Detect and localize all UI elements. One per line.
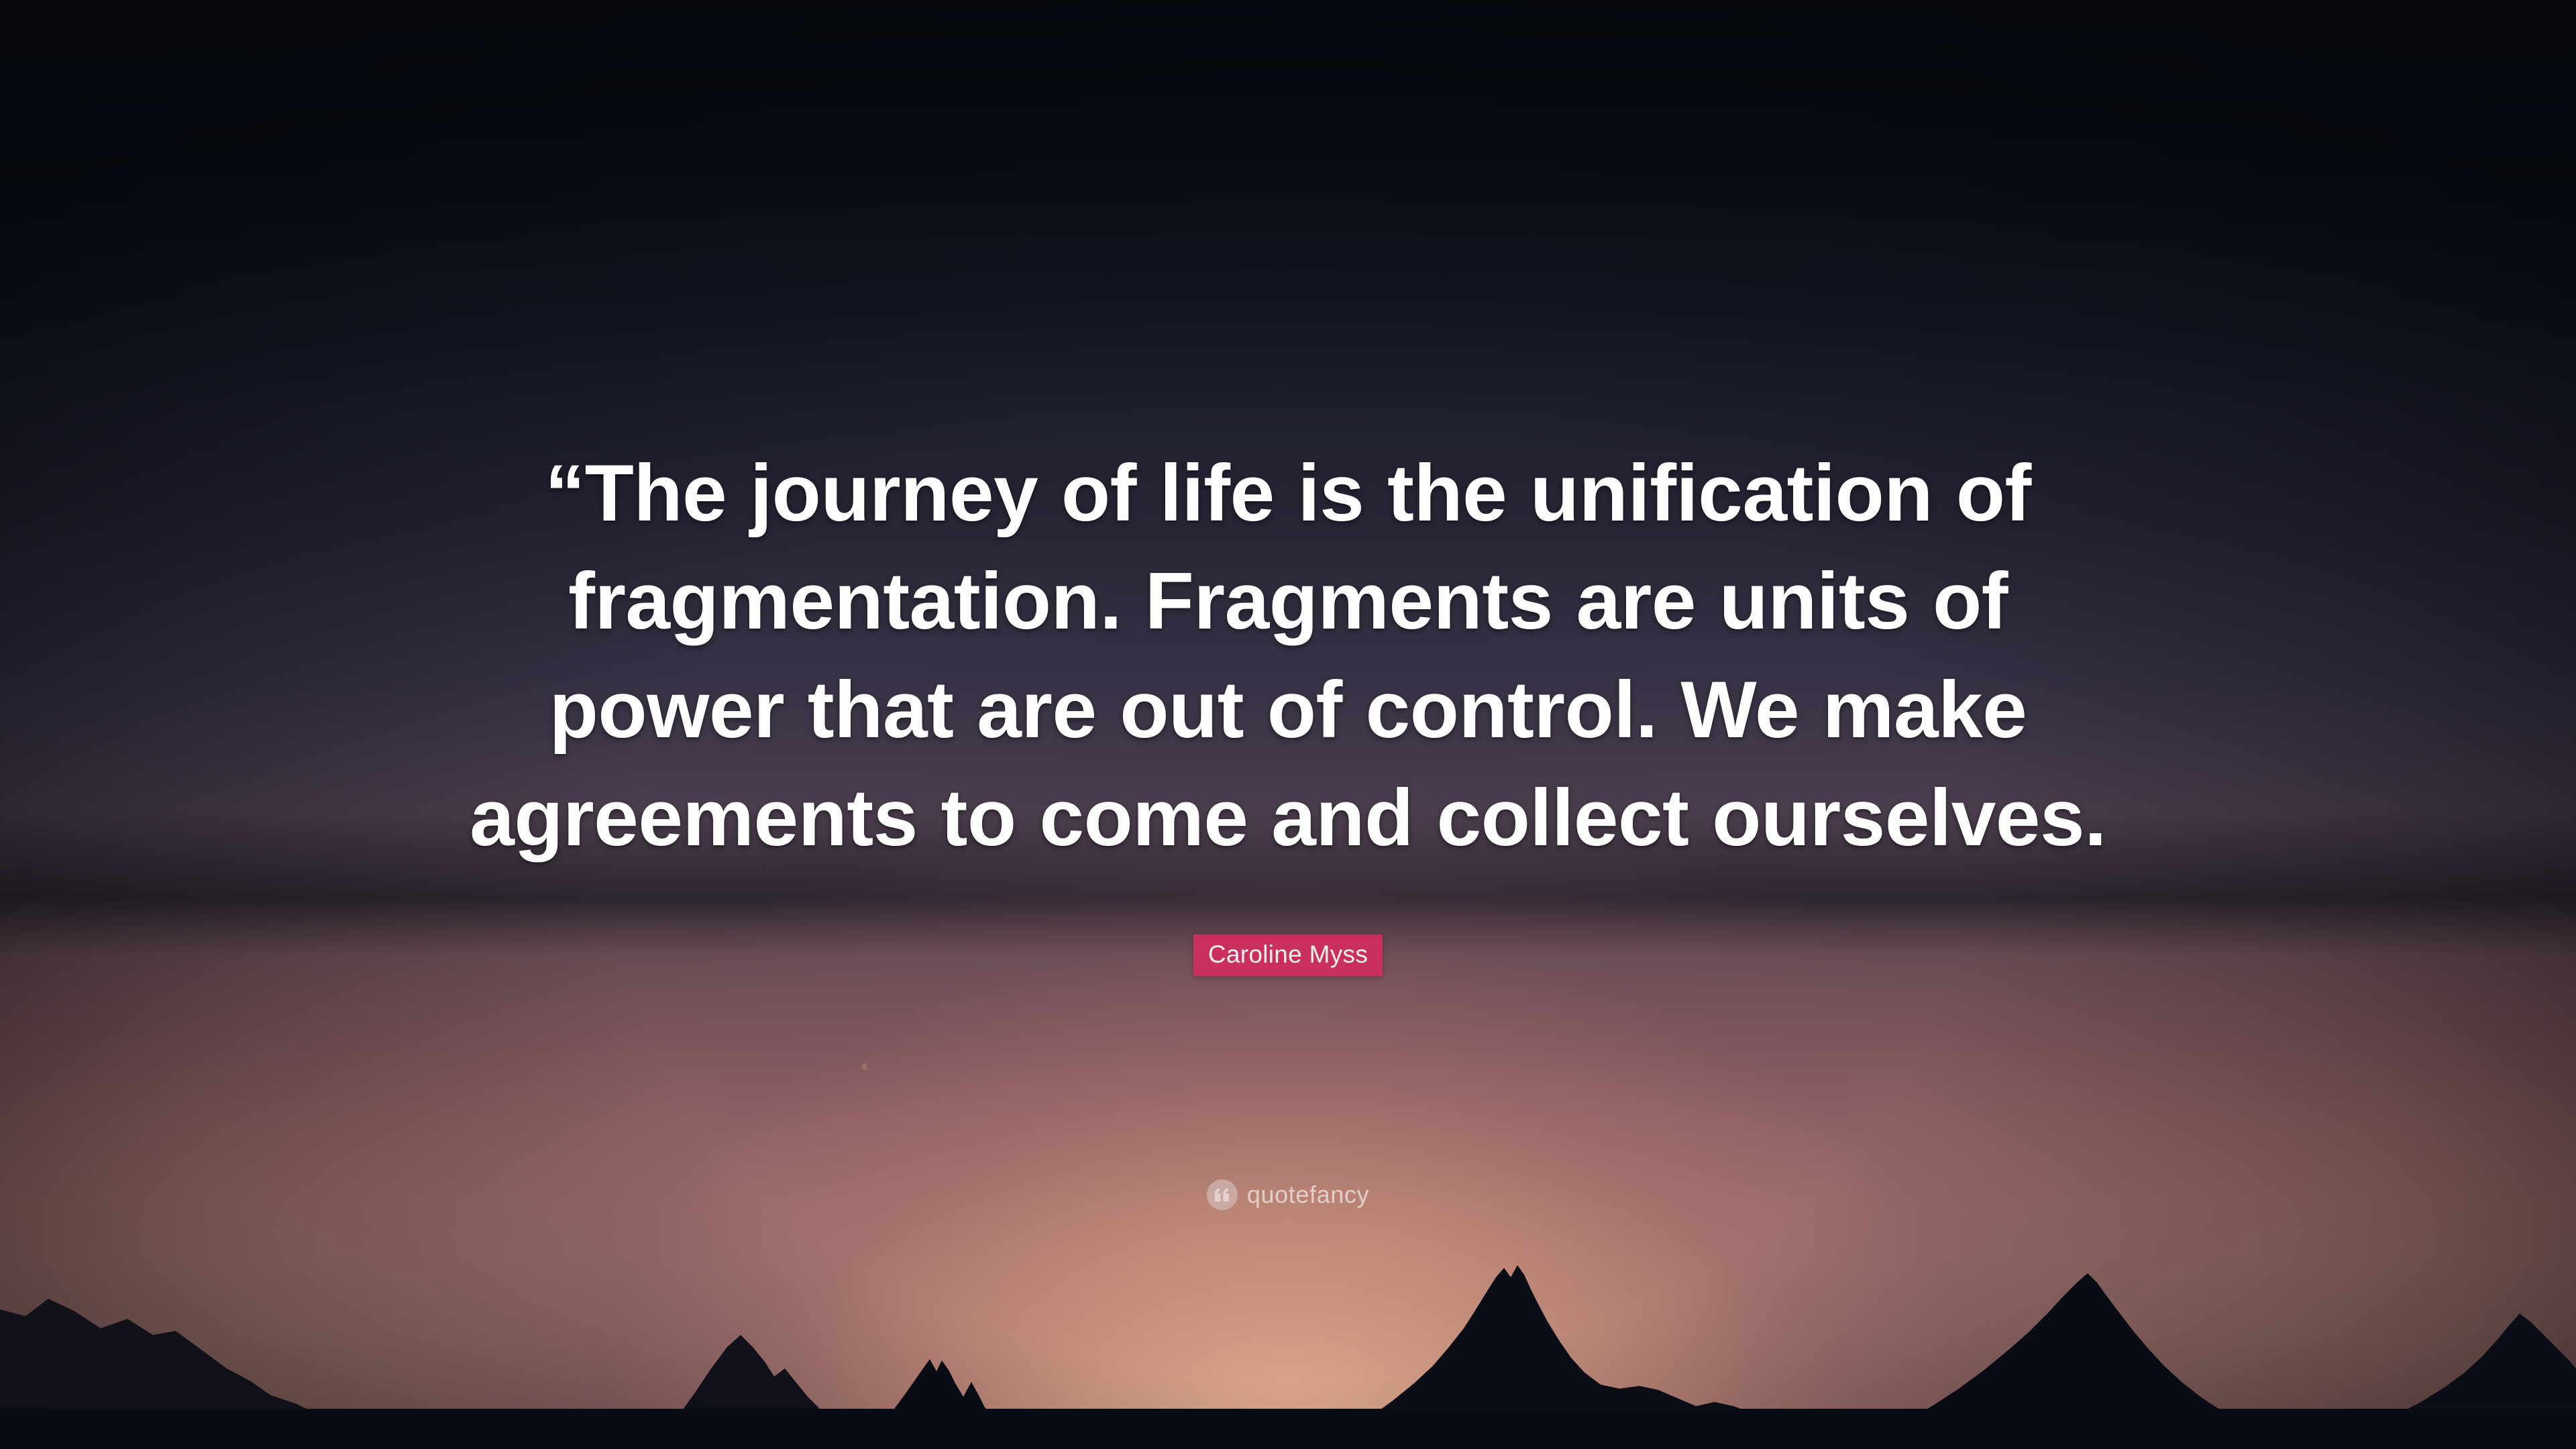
top-darkening-layer — [0, 0, 2576, 416]
author-badge: Caroline Myss — [1193, 934, 1383, 976]
quote-block: “The journey of life is the unification … — [466, 439, 2110, 873]
quotefancy-watermark: quotefancy — [1207, 1179, 1369, 1210]
quote-poster: “The journey of life is the unification … — [0, 0, 2576, 1449]
author-name: Caroline Myss — [1208, 942, 1368, 967]
quotefancy-brand-name: quotefancy — [1247, 1183, 1369, 1207]
quote-text: “The journey of life is the unification … — [466, 439, 2110, 873]
dust-speck — [862, 1063, 867, 1069]
quote-mark-icon — [1207, 1179, 1238, 1210]
